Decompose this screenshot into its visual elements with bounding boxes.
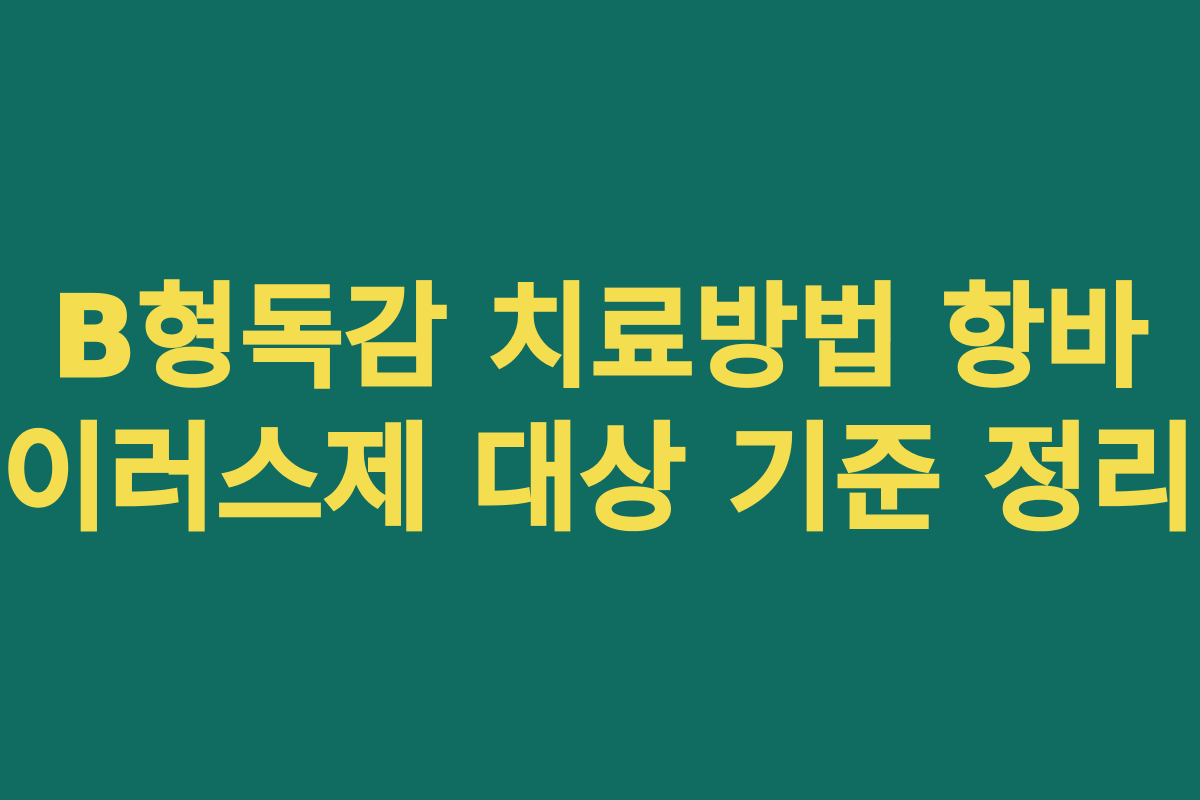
thumbnail-card: B형독감 치료방법 항바 이러스제 대상 기준 정리: [0, 0, 1200, 800]
headline-line-2: 이러스제 대상 기준 정리: [0, 408, 1200, 552]
headline-block: B형독감 치료방법 항바 이러스제 대상 기준 정리: [0, 269, 1200, 552]
headline-line-1: B형독감 치료방법 항바: [0, 269, 1200, 408]
